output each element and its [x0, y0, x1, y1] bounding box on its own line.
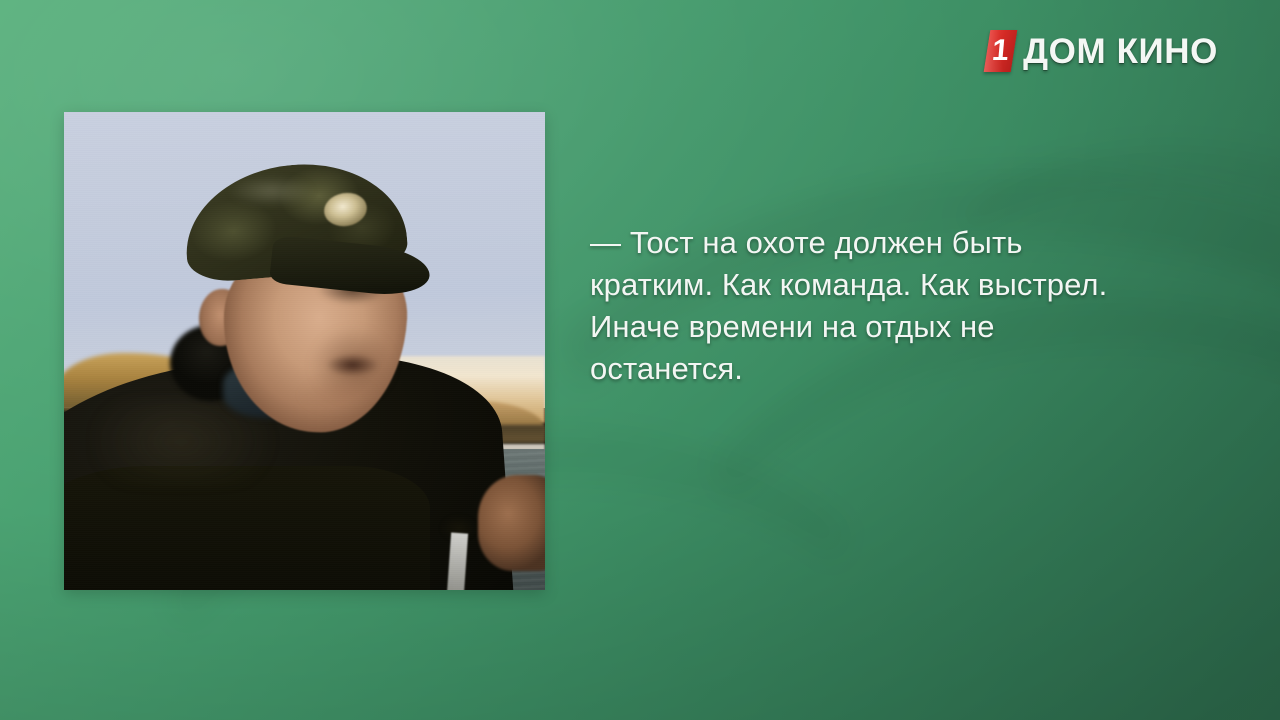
quote-line: останется.	[590, 348, 1190, 390]
quote-line: кратким. Как команда. Как выстрел.	[590, 264, 1190, 306]
channel-one-digit: 1	[990, 36, 1008, 66]
channel-logo-text: ДОМ КИНО	[1023, 34, 1218, 69]
channel-one-mark-icon: 1	[984, 30, 1018, 72]
photo-rod	[447, 532, 468, 590]
still-frame-photo	[64, 112, 545, 590]
channel-logo: 1 ДОМ КИНО	[987, 28, 1218, 74]
photo-face-chin	[295, 380, 382, 418]
quote-text: — Тост на охоте должен быть кратким. Как…	[590, 222, 1190, 390]
screen: 1 ДОМ КИНО	[0, 0, 1280, 720]
quote-line: Иначе времени на отдых не	[590, 306, 1190, 348]
photo-hand	[478, 475, 545, 571]
photo-cap-highlight	[223, 174, 319, 207]
photo-face-mouth	[324, 353, 382, 377]
photo-content	[64, 112, 545, 590]
quote-line: — Тост на охоте должен быть	[590, 222, 1190, 264]
